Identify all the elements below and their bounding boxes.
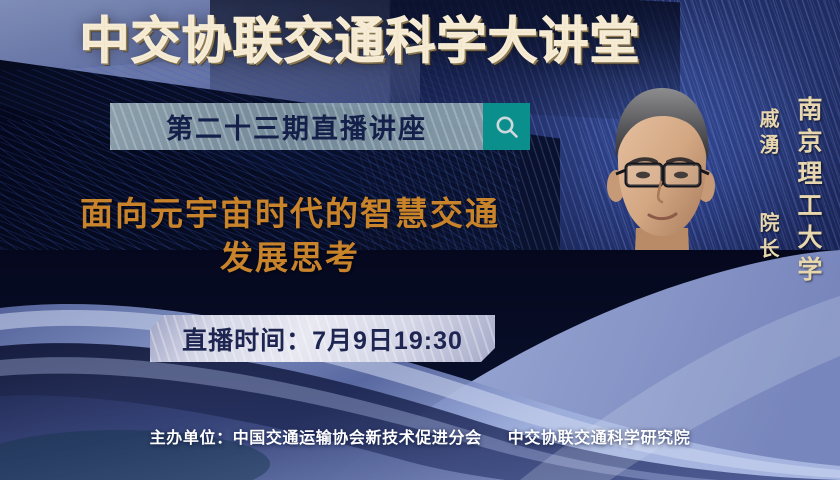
speaker-name: 戚湧 xyxy=(753,108,782,160)
page-title: 中交协联交通科学大讲堂 xyxy=(0,14,720,69)
speaker-title: 院长 xyxy=(753,212,782,264)
schedule-badge: 直播时间：7月9日19:30 xyxy=(150,315,495,362)
livestream-poster: 中交协联交通科学大讲堂 第二十三期直播讲座 面向元宇宙时代的智慧交通 发展思考 … xyxy=(0,0,840,480)
search-button[interactable] xyxy=(483,103,530,150)
footer-hosts: 主办单位：中国交通运输协会新技术促进分会中交协联交通科学研究院 xyxy=(0,424,840,448)
search-icon xyxy=(493,113,521,141)
topic-line-2: 发展思考 xyxy=(20,236,560,280)
topic-headline: 面向元宇宙时代的智慧交通 发展思考 xyxy=(20,192,560,279)
episode-search-bar[interactable]: 第二十三期直播讲座 xyxy=(110,103,530,150)
footer-host-2: 中交协联交通科学研究院 xyxy=(508,430,691,447)
footer-host-1: 中国交通运输协会新技术促进分会 xyxy=(233,430,482,447)
episode-label-field[interactable]: 第二十三期直播讲座 xyxy=(110,103,483,150)
schedule-text: 直播时间：7月9日19:30 xyxy=(182,321,463,357)
footer-host-label: 主办单位： xyxy=(150,430,233,447)
episode-label: 第二十三期直播讲座 xyxy=(166,107,427,146)
topic-line-1: 面向元宇宙时代的智慧交通 xyxy=(80,195,500,232)
speaker-organization: 南京理工大学 xyxy=(790,96,826,288)
